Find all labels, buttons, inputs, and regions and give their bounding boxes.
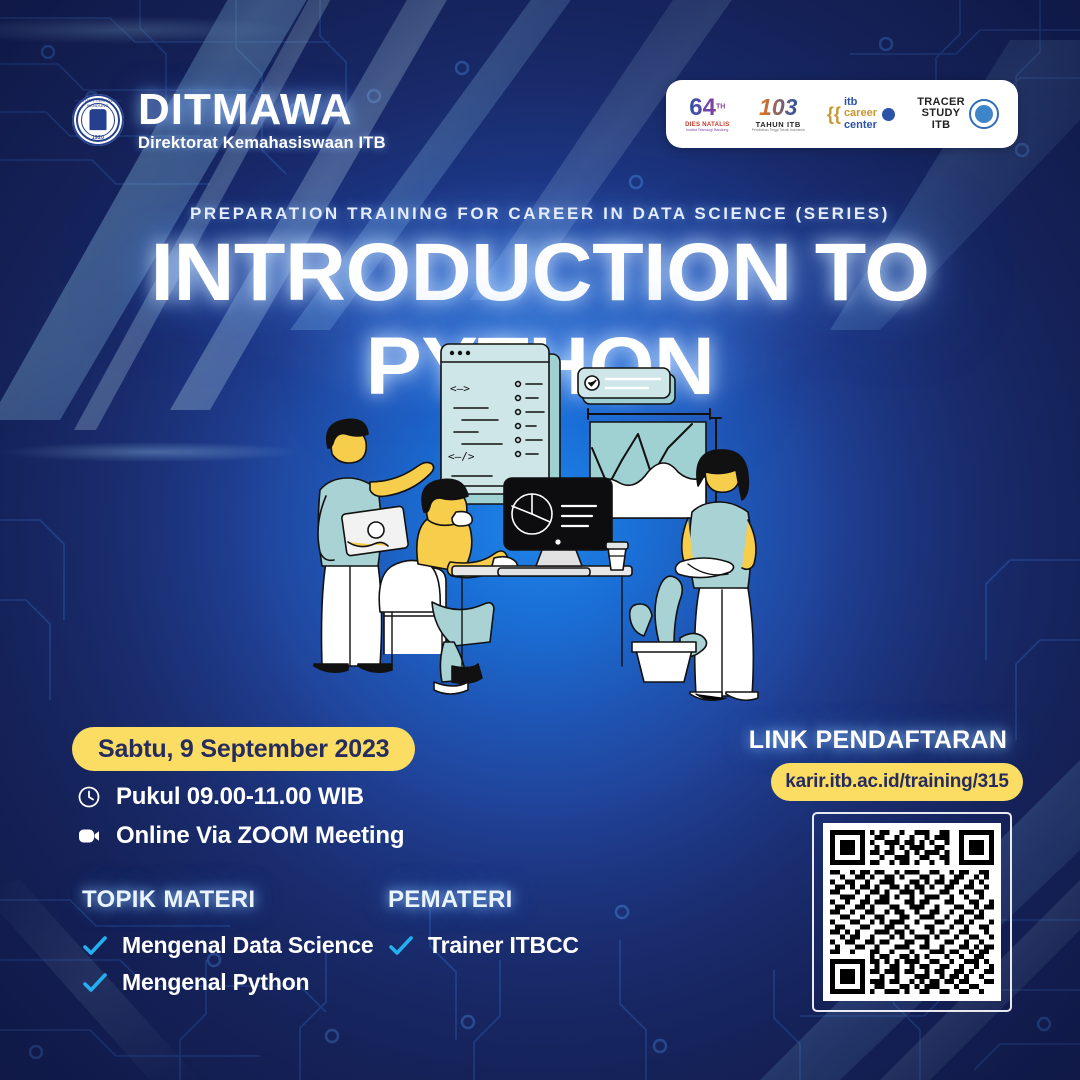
check-icon [388,936,414,956]
qr-code[interactable] [823,823,1001,1001]
career-center-line3: center [844,120,877,131]
dies-natalis-caption: DIES NATALIS [685,122,729,128]
brand-subtitle: Direktorat Kemahasiswaan ITB [138,135,386,152]
career-center-line2: career [844,108,877,119]
qr-code-frame[interactable] [812,812,1012,1012]
video-camera-icon [76,823,102,849]
logo-itb-career-center: {{ itb career center [827,97,895,131]
kicker-text: PREPARATION TRAINING FOR CAREER IN DATA … [0,204,1080,224]
ditmawa-brand-lockup: INSTITUT TEKNOLOGI BANDUNG 1920 DITMAWA … [72,88,386,152]
event-time-row: Pukul 09.00-11.00 WIB [76,783,364,811]
tracer-study-line3: ITB [932,120,951,131]
qr-code-image [830,830,994,994]
topic-label: Mengenal Data Science [122,932,373,959]
speakers-title: PEMATERI [388,886,579,914]
svg-text:<—>: <—> [450,382,470,395]
poster-header: INSTITUT TEKNOLOGI BANDUNG 1920 DITMAWA … [0,0,1080,170]
logo-tracer-study-itb: TRACER STUDY ITB [917,97,999,131]
event-platform-text: Online Via ZOOM Meeting [116,822,404,850]
dies-natalis-number: 64 [689,94,716,121]
event-date-badge: Sabtu, 9 September 2023 [72,727,415,771]
career-center-dot-icon [882,108,895,121]
list-item: Mengenal Python [82,969,373,996]
tahun-itb-caption: TAHUN ITB [756,121,801,129]
brand-title: DITMAWA [138,88,386,132]
tracer-study-line2: STUDY [922,108,961,119]
event-time-text: Pukul 09.00-11.00 WIB [116,783,364,811]
tahun-itb-number: 103 [759,96,797,119]
seal-year: 1920 [72,135,124,141]
tahun-itb-caption2: Pendidikan Tinggi Teknik Indonesia [752,129,805,132]
seal-arc-text: INSTITUT TEKNOLOGI BANDUNG [72,98,124,108]
itb-seal-icon: INSTITUT TEKNOLOGI BANDUNG 1920 [72,94,124,146]
list-item: Mengenal Data Science [82,932,373,959]
speakers-section: PEMATERI Trainer ITBCC [388,886,579,969]
partner-logo-strip: 64TH DIES NATALIS Institut Teknologi Ban… [666,80,1018,148]
speakers-list: Trainer ITBCC [388,932,579,959]
logo-dies-natalis: 64TH DIES NATALIS Institut Teknologi Ban… [685,96,729,133]
clock-icon [76,784,102,810]
dies-natalis-sup: TH [716,103,725,110]
topics-title: TOPIK MATERI [82,886,373,914]
career-center-swirl-icon: {{ [827,107,841,121]
speaker-label: Trainer ITBCC [428,932,579,959]
topics-list: Mengenal Data Science Mengenal Python [82,932,373,996]
illustration-data-science-team: <—> <—/> [292,336,792,716]
event-platform-row: Online Via ZOOM Meeting [76,822,404,850]
registration-url-badge[interactable]: karir.itb.ac.id/training/315 [771,763,1023,801]
check-icon [82,973,108,993]
poster-canvas: INSTITUT TEKNOLOGI BANDUNG 1920 DITMAWA … [0,0,1080,1080]
logo-tahun-itb: 103 TAHUN ITB Pendidikan Tinggi Teknik I… [752,96,805,133]
notification-card [578,368,675,404]
list-item: Trainer ITBCC [388,932,579,959]
check-icon [82,936,108,956]
svg-text:<—/>: <—/> [448,450,475,463]
tracer-study-seal-icon [969,99,999,129]
topic-label: Mengenal Python [122,969,309,996]
topics-section: TOPIK MATERI Mengenal Data Science Menge… [82,886,373,1006]
registration-title: LINK PENDAFTARAN [738,726,1018,755]
dies-natalis-caption2: Institut Teknologi Bandung [686,129,728,133]
